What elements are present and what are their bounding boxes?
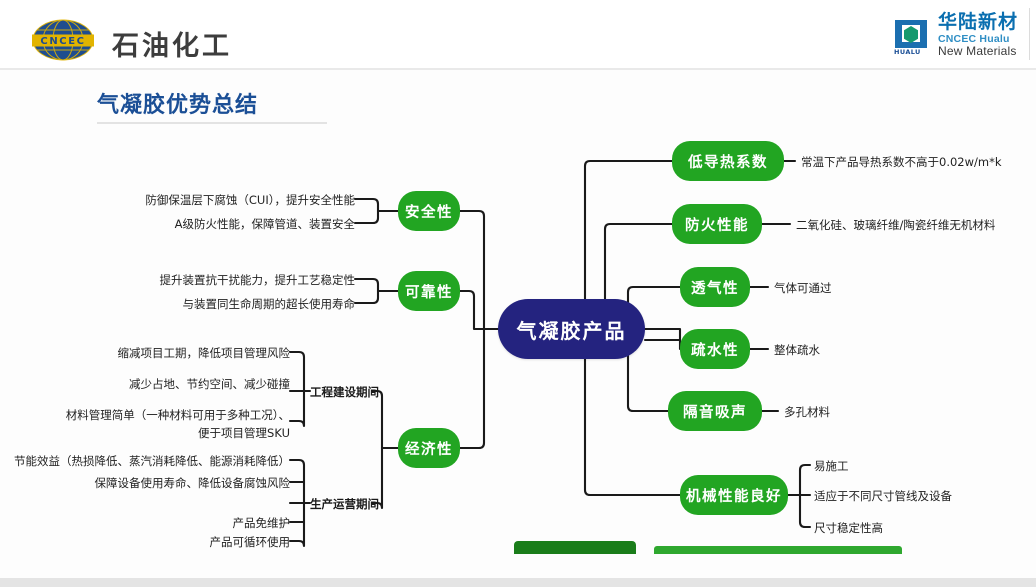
leaf-operation-3: 产品免维护 — [233, 515, 291, 532]
leaf-construction-2: 减少占地、节约空间、减少碰撞 — [129, 376, 290, 393]
leaf-reliability-1: 提升装置抗干扰能力，提升工艺稳定性 — [160, 272, 356, 289]
leaf-safety-1: 防御保温层下腐蚀（CUI），提升安全性能 — [145, 192, 355, 209]
branch-node-fireproof[interactable]: 防火性能 — [672, 204, 762, 244]
branch-node-low-conductivity[interactable]: 低导热系数 — [672, 141, 784, 181]
leaf-operation-1: 节能效益（热损降低、蒸汽消耗降低、能源消耗降低） — [14, 453, 290, 470]
bottom-bar-left — [514, 541, 636, 554]
slide-header: CNCEC 石油化工 HUALU 华陆新材 CNCEC Hualu New Ma… — [0, 0, 1036, 68]
hualu-logo: HUALU 华陆新材 CNCEC Hualu New Materials — [891, 12, 1018, 58]
hualu-name-en-2: New Materials — [938, 45, 1018, 57]
branch-node-soundproof[interactable]: 隔音吸声 — [668, 391, 762, 431]
leaf-low-conductivity-1: 常温下产品导热系数不高于0.02w/m*k — [801, 154, 1002, 171]
leaf-operation-4: 产品可循环使用 — [210, 534, 291, 551]
branch-node-breathable[interactable]: 透气性 — [680, 267, 750, 307]
mindmap-canvas: 气凝胶产品 安全性 可靠性 经济性 防御保温层下腐蚀（CUI），提升安全性能 A… — [0, 130, 1036, 587]
branch-node-mechanical[interactable]: 机械性能良好 — [680, 475, 788, 515]
cncec-logo-icon: CNCEC — [24, 18, 102, 62]
leaf-construction-4: 便于项目管理SKU — [198, 425, 290, 442]
svg-text:CNCEC: CNCEC — [40, 36, 85, 47]
leaf-safety-2: A级防火性能，保障管道、装置安全 — [175, 216, 355, 233]
group-label-construction: 工程建设期间 — [310, 384, 379, 400]
hualu-mark-icon: HUALU — [891, 15, 931, 55]
brand-name-cn: 石油化工 — [112, 24, 232, 63]
hualu-name-cn: 华陆新材 — [938, 13, 1018, 32]
mindmap-root-node[interactable]: 气凝胶产品 — [498, 299, 645, 359]
page-title: 气凝胶优势总结 — [97, 87, 258, 119]
leaf-operation-2: 保障设备使用寿命、降低设备腐蚀风险 — [95, 475, 291, 492]
leaf-mechanical-3: 尺寸稳定性高 — [814, 520, 883, 537]
leaf-mechanical-1: 易施工 — [814, 458, 849, 475]
header-divider — [1029, 8, 1030, 60]
header-rule — [0, 68, 1036, 70]
branch-node-reliability[interactable]: 可靠性 — [398, 271, 460, 311]
leaf-breathable-1: 气体可通过 — [774, 280, 832, 297]
branch-node-hydrophobic[interactable]: 疏水性 — [680, 329, 750, 369]
leaf-soundproof-1: 多孔材料 — [784, 404, 830, 421]
branch-node-safety[interactable]: 安全性 — [398, 191, 460, 231]
leaf-construction-3: 材料管理简单（一种材料可用于多种工况）、 — [66, 407, 290, 424]
bottom-bar-right — [654, 546, 902, 554]
leaf-hydrophobic-1: 整体疏水 — [774, 342, 820, 359]
footer-strip — [0, 578, 1036, 587]
group-label-operation: 生产运营期间 — [310, 496, 379, 512]
leaf-construction-1: 缩减项目工期，降低项目管理风险 — [118, 345, 291, 362]
leaf-mechanical-2: 适应于不同尺寸管线及设备 — [814, 488, 952, 505]
leaf-reliability-2: 与装置同生命周期的超长使用寿命 — [183, 296, 356, 313]
branch-node-economy[interactable]: 经济性 — [398, 428, 460, 468]
title-underline — [97, 122, 327, 124]
leaf-fireproof-1: 二氧化硅、玻璃纤维/陶瓷纤维无机材料 — [796, 217, 995, 234]
svg-text:HUALU: HUALU — [894, 48, 921, 55]
slide-canvas: CNCEC 石油化工 HUALU 华陆新材 CNCEC Hualu New Ma… — [0, 0, 1036, 587]
